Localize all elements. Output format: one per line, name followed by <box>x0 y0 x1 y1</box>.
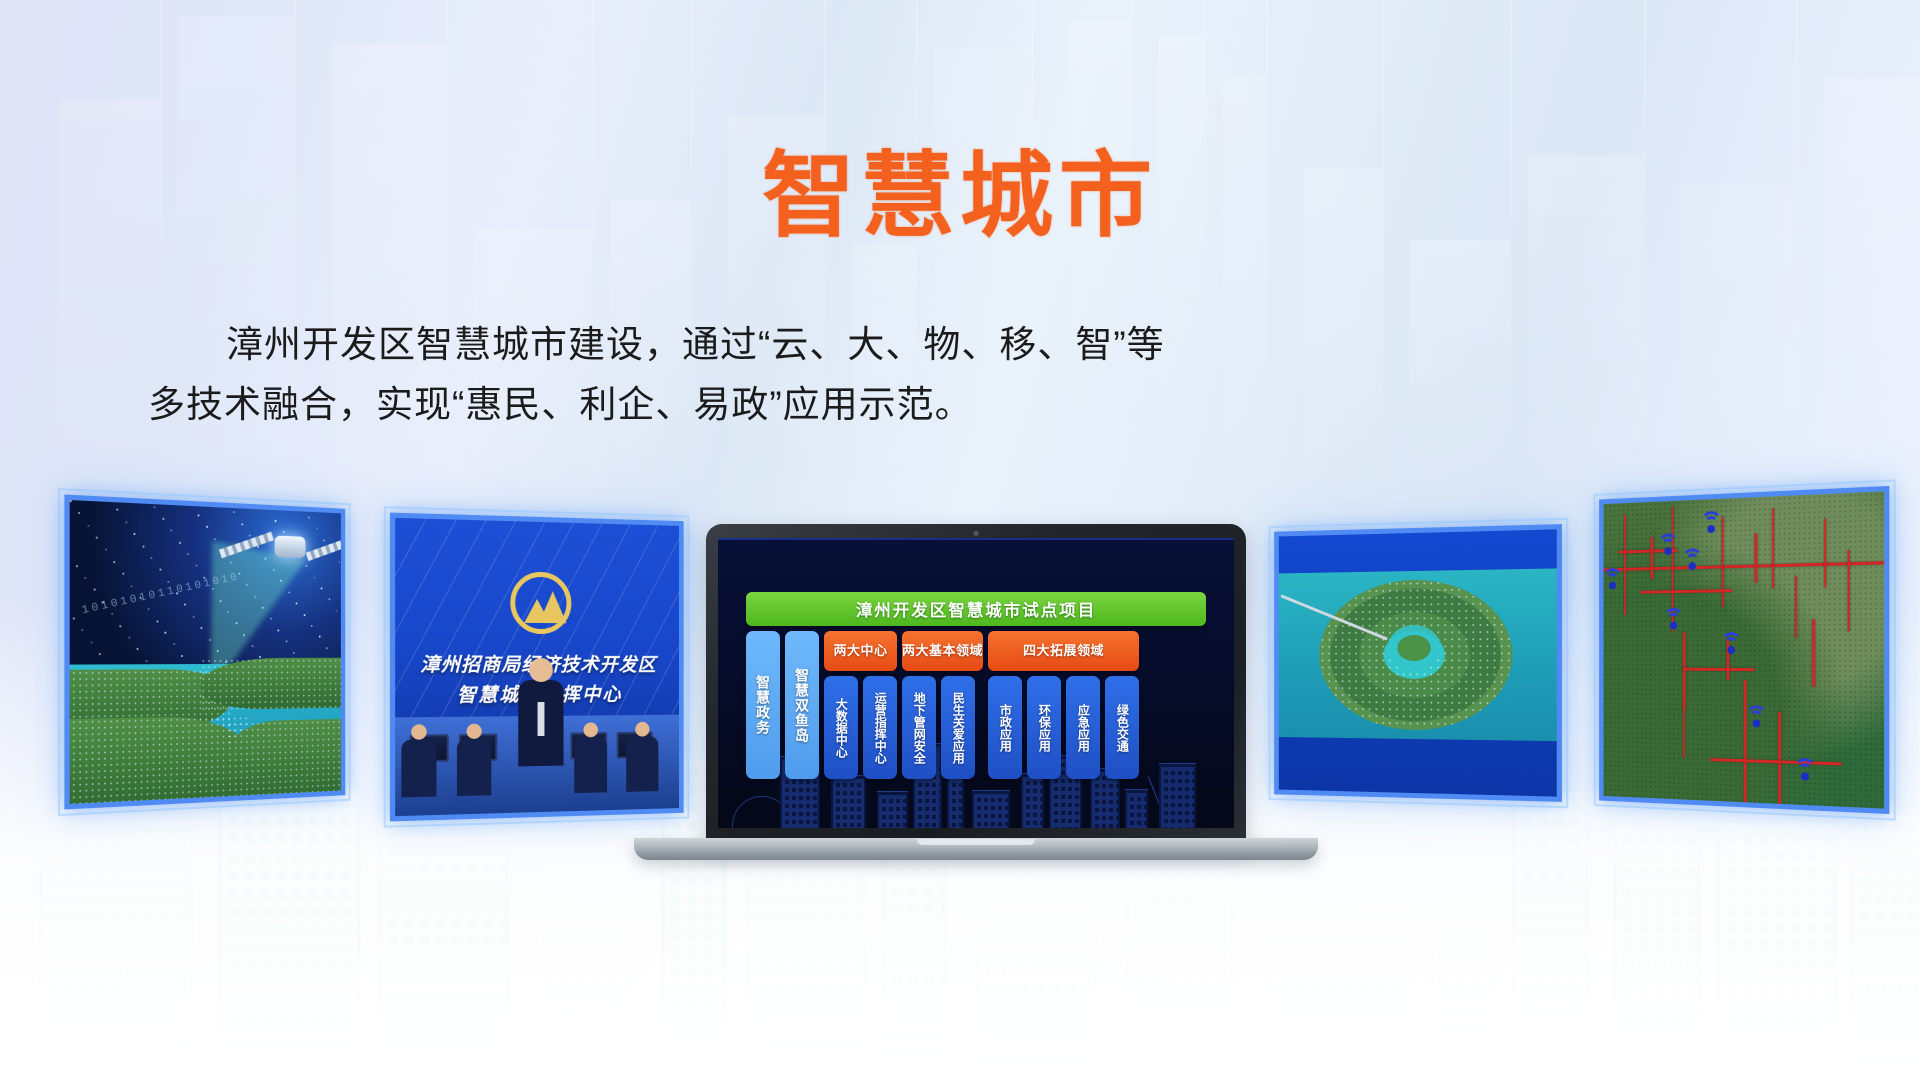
star <box>241 523 243 525</box>
panel-satellite-coastal-city[interactable]: 10101010110101010 <box>64 495 345 810</box>
star <box>168 581 170 583</box>
wifi-hotspot-icon[interactable] <box>1744 705 1769 732</box>
diagram-item[interactable]: 绿色交通 <box>1105 676 1139 779</box>
star <box>328 599 330 601</box>
star <box>84 577 86 579</box>
item-label: 环保应用 <box>1038 704 1051 752</box>
item-label: 大数据中心 <box>835 698 848 758</box>
star <box>151 557 153 559</box>
pillar-label: 智慧双鱼岛 <box>792 668 812 743</box>
star <box>82 629 84 631</box>
diagram-title: 漳州开发区智慧城市试点项目 <box>746 592 1206 626</box>
panel-wifi-coverage-map[interactable] <box>1599 486 1889 814</box>
star <box>154 506 156 508</box>
star <box>87 525 89 527</box>
seated-staff <box>574 737 607 793</box>
island-lagoon <box>1397 635 1430 661</box>
road-segment <box>1812 619 1815 687</box>
presenter <box>518 680 563 766</box>
group-items: 地下管网安全 民生关爱应用 <box>902 676 983 779</box>
road-segment <box>1683 668 1755 671</box>
diagram-body: 智慧政务 智慧双鱼岛 两大中心 大数据中心 运营指挥中心 两大基本领域 <box>746 631 1206 779</box>
group-header[interactable]: 两大中心 <box>824 631 897 671</box>
item-label: 民生关爱应用 <box>952 692 965 764</box>
group-items: 市政应用 环保应用 应急应用 绿色交通 <box>988 676 1139 779</box>
laptop-base <box>634 838 1318 860</box>
landmass <box>70 715 249 804</box>
star <box>117 509 119 511</box>
diagram-group-two-centers: 两大中心 大数据中心 运营指挥中心 <box>824 631 897 779</box>
star <box>249 534 251 536</box>
item-label: 市政应用 <box>999 704 1012 752</box>
diagram-pillar-smart-government[interactable]: 智慧政务 <box>746 631 780 779</box>
screen-building <box>1125 789 1148 828</box>
seated-staff <box>401 739 436 797</box>
landmass <box>228 718 341 802</box>
item-label: 地下管网安全 <box>913 692 926 764</box>
star <box>214 538 216 540</box>
laptop-base-notch <box>917 839 1035 845</box>
item-label: 应急应用 <box>1077 704 1090 752</box>
description-line-1: 漳州开发区智慧城市建设，通过“云、大、物、移、智”等 <box>226 324 1165 365</box>
star <box>336 610 338 612</box>
star <box>142 545 144 547</box>
page-description: 漳州开发区智慧城市建设，通过“云、大、物、移、智”等 多技术融合，实现“惠民、利… <box>148 315 1778 435</box>
star <box>179 541 181 543</box>
pillar-label: 智慧政务 <box>753 675 773 735</box>
road-segment <box>1795 576 1797 638</box>
screen-building <box>947 775 964 828</box>
wifi-hotspot-icon[interactable] <box>1680 548 1704 574</box>
star <box>338 561 340 563</box>
panel-command-center[interactable]: 漳州招商局经济技术开发区 智慧城市指挥中心 <box>390 513 684 822</box>
star <box>96 537 98 539</box>
screen-building <box>877 791 908 828</box>
group-header[interactable]: 两大基本领域 <box>902 631 983 671</box>
webcam-icon <box>973 530 980 537</box>
seated-staff <box>626 736 658 792</box>
road-segment <box>1683 704 1685 758</box>
star <box>162 518 164 520</box>
laptop-lid: 漳州开发区智慧城市试点项目 智慧政务 智慧双鱼岛 两大中心 大数据中心 运营指挥… <box>706 524 1246 844</box>
group-items: 大数据中心 运营指挥中心 <box>824 676 897 779</box>
screen-building <box>1021 773 1044 828</box>
star <box>206 526 208 528</box>
panel-map-image <box>1604 491 1885 808</box>
star <box>93 589 95 591</box>
diagram-item[interactable]: 大数据中心 <box>824 676 858 779</box>
page-title: 智慧城市 <box>0 120 1920 255</box>
star <box>79 512 81 514</box>
road-segment <box>1744 680 1747 802</box>
road-segment <box>1778 712 1781 804</box>
star <box>122 573 124 575</box>
road-segment <box>1824 519 1826 588</box>
wifi-hotspot-icon[interactable] <box>1656 533 1680 559</box>
star <box>114 561 116 563</box>
star <box>159 569 161 571</box>
star <box>170 530 172 532</box>
laptop-screen[interactable]: 漳州开发区智慧城市试点项目 智慧政务 智慧双鱼岛 两大中心 大数据中心 运营指挥… <box>718 538 1234 828</box>
star <box>308 516 310 518</box>
panel-island-image <box>1279 529 1557 796</box>
star <box>257 546 259 548</box>
screen-building <box>972 790 1010 828</box>
diagram-item[interactable]: 运营指挥中心 <box>863 676 897 779</box>
mountain-logo-icon <box>510 571 571 634</box>
star <box>323 539 325 541</box>
star <box>76 565 78 567</box>
laptop-device: 漳州开发区智慧城市试点项目 智慧政务 智慧双鱼岛 两大中心 大数据中心 运营指挥… <box>706 524 1246 884</box>
diagram-pillar-smart-island[interactable]: 智慧双鱼岛 <box>785 631 819 779</box>
road-segment <box>1651 537 1654 579</box>
panel-satellite-image: 10101010110101010 <box>70 500 341 804</box>
wifi-hotspot-icon[interactable] <box>1718 632 1743 658</box>
star <box>125 521 127 523</box>
star <box>275 520 277 522</box>
star <box>233 511 235 513</box>
star <box>293 652 295 654</box>
star <box>73 617 75 619</box>
group-header[interactable]: 四大拓展领域 <box>988 631 1139 671</box>
screen-top-accent <box>718 538 1234 540</box>
star <box>326 647 328 649</box>
diagram-item[interactable]: 应急应用 <box>1066 676 1100 779</box>
star <box>283 531 285 533</box>
star <box>195 565 197 567</box>
diagram-item[interactable]: 市政应用 <box>988 676 1022 779</box>
star <box>70 500 72 502</box>
screen-building <box>831 775 866 828</box>
landmass <box>201 658 341 711</box>
star <box>187 553 189 555</box>
panel-command-center-image: 漳州招商局经济技术开发区 智慧城市指挥中心 <box>395 518 679 816</box>
road-segment <box>1755 534 1758 583</box>
diagram-group-two-basic-fields: 两大基本领域 地下管网安全 民生关爱应用 <box>902 631 983 779</box>
description-line-2: 多技术融合，实现“惠民、利企、易政”应用示范。 <box>148 384 973 425</box>
item-label: 绿色交通 <box>1116 704 1129 752</box>
panel-double-fish-island[interactable] <box>1274 524 1562 802</box>
star <box>134 533 136 535</box>
diagram-item[interactable]: 民生关爱应用 <box>941 676 975 779</box>
item-label: 运营指挥中心 <box>874 692 887 764</box>
road-segment <box>1683 632 1686 710</box>
satellite-icon <box>275 536 306 559</box>
seated-staff <box>457 739 491 796</box>
star <box>198 514 200 516</box>
wifi-hotspot-icon[interactable] <box>1699 511 1724 538</box>
wifi-hotspot-icon[interactable] <box>1661 608 1685 634</box>
road-segment <box>1848 549 1850 631</box>
island-photo <box>1279 568 1557 741</box>
diagram-group-four-expansion-fields: 四大拓展领域 市政应用 环保应用 应急应用 绿色交通 <box>988 631 1139 779</box>
road-segment <box>1772 509 1774 589</box>
road-segment <box>1624 515 1626 615</box>
wifi-hotspot-icon[interactable] <box>1604 568 1625 594</box>
diagram-item[interactable]: 地下管网安全 <box>902 676 936 779</box>
star <box>131 585 133 587</box>
star <box>316 528 318 530</box>
wifi-hotspot-icon[interactable] <box>1792 758 1818 785</box>
smart-city-diagram: 漳州开发区智慧城市试点项目 智慧政务 智慧双鱼岛 两大中心 大数据中心 运营指挥… <box>746 592 1206 779</box>
star <box>105 549 107 551</box>
diagram-item[interactable]: 环保应用 <box>1027 676 1061 779</box>
